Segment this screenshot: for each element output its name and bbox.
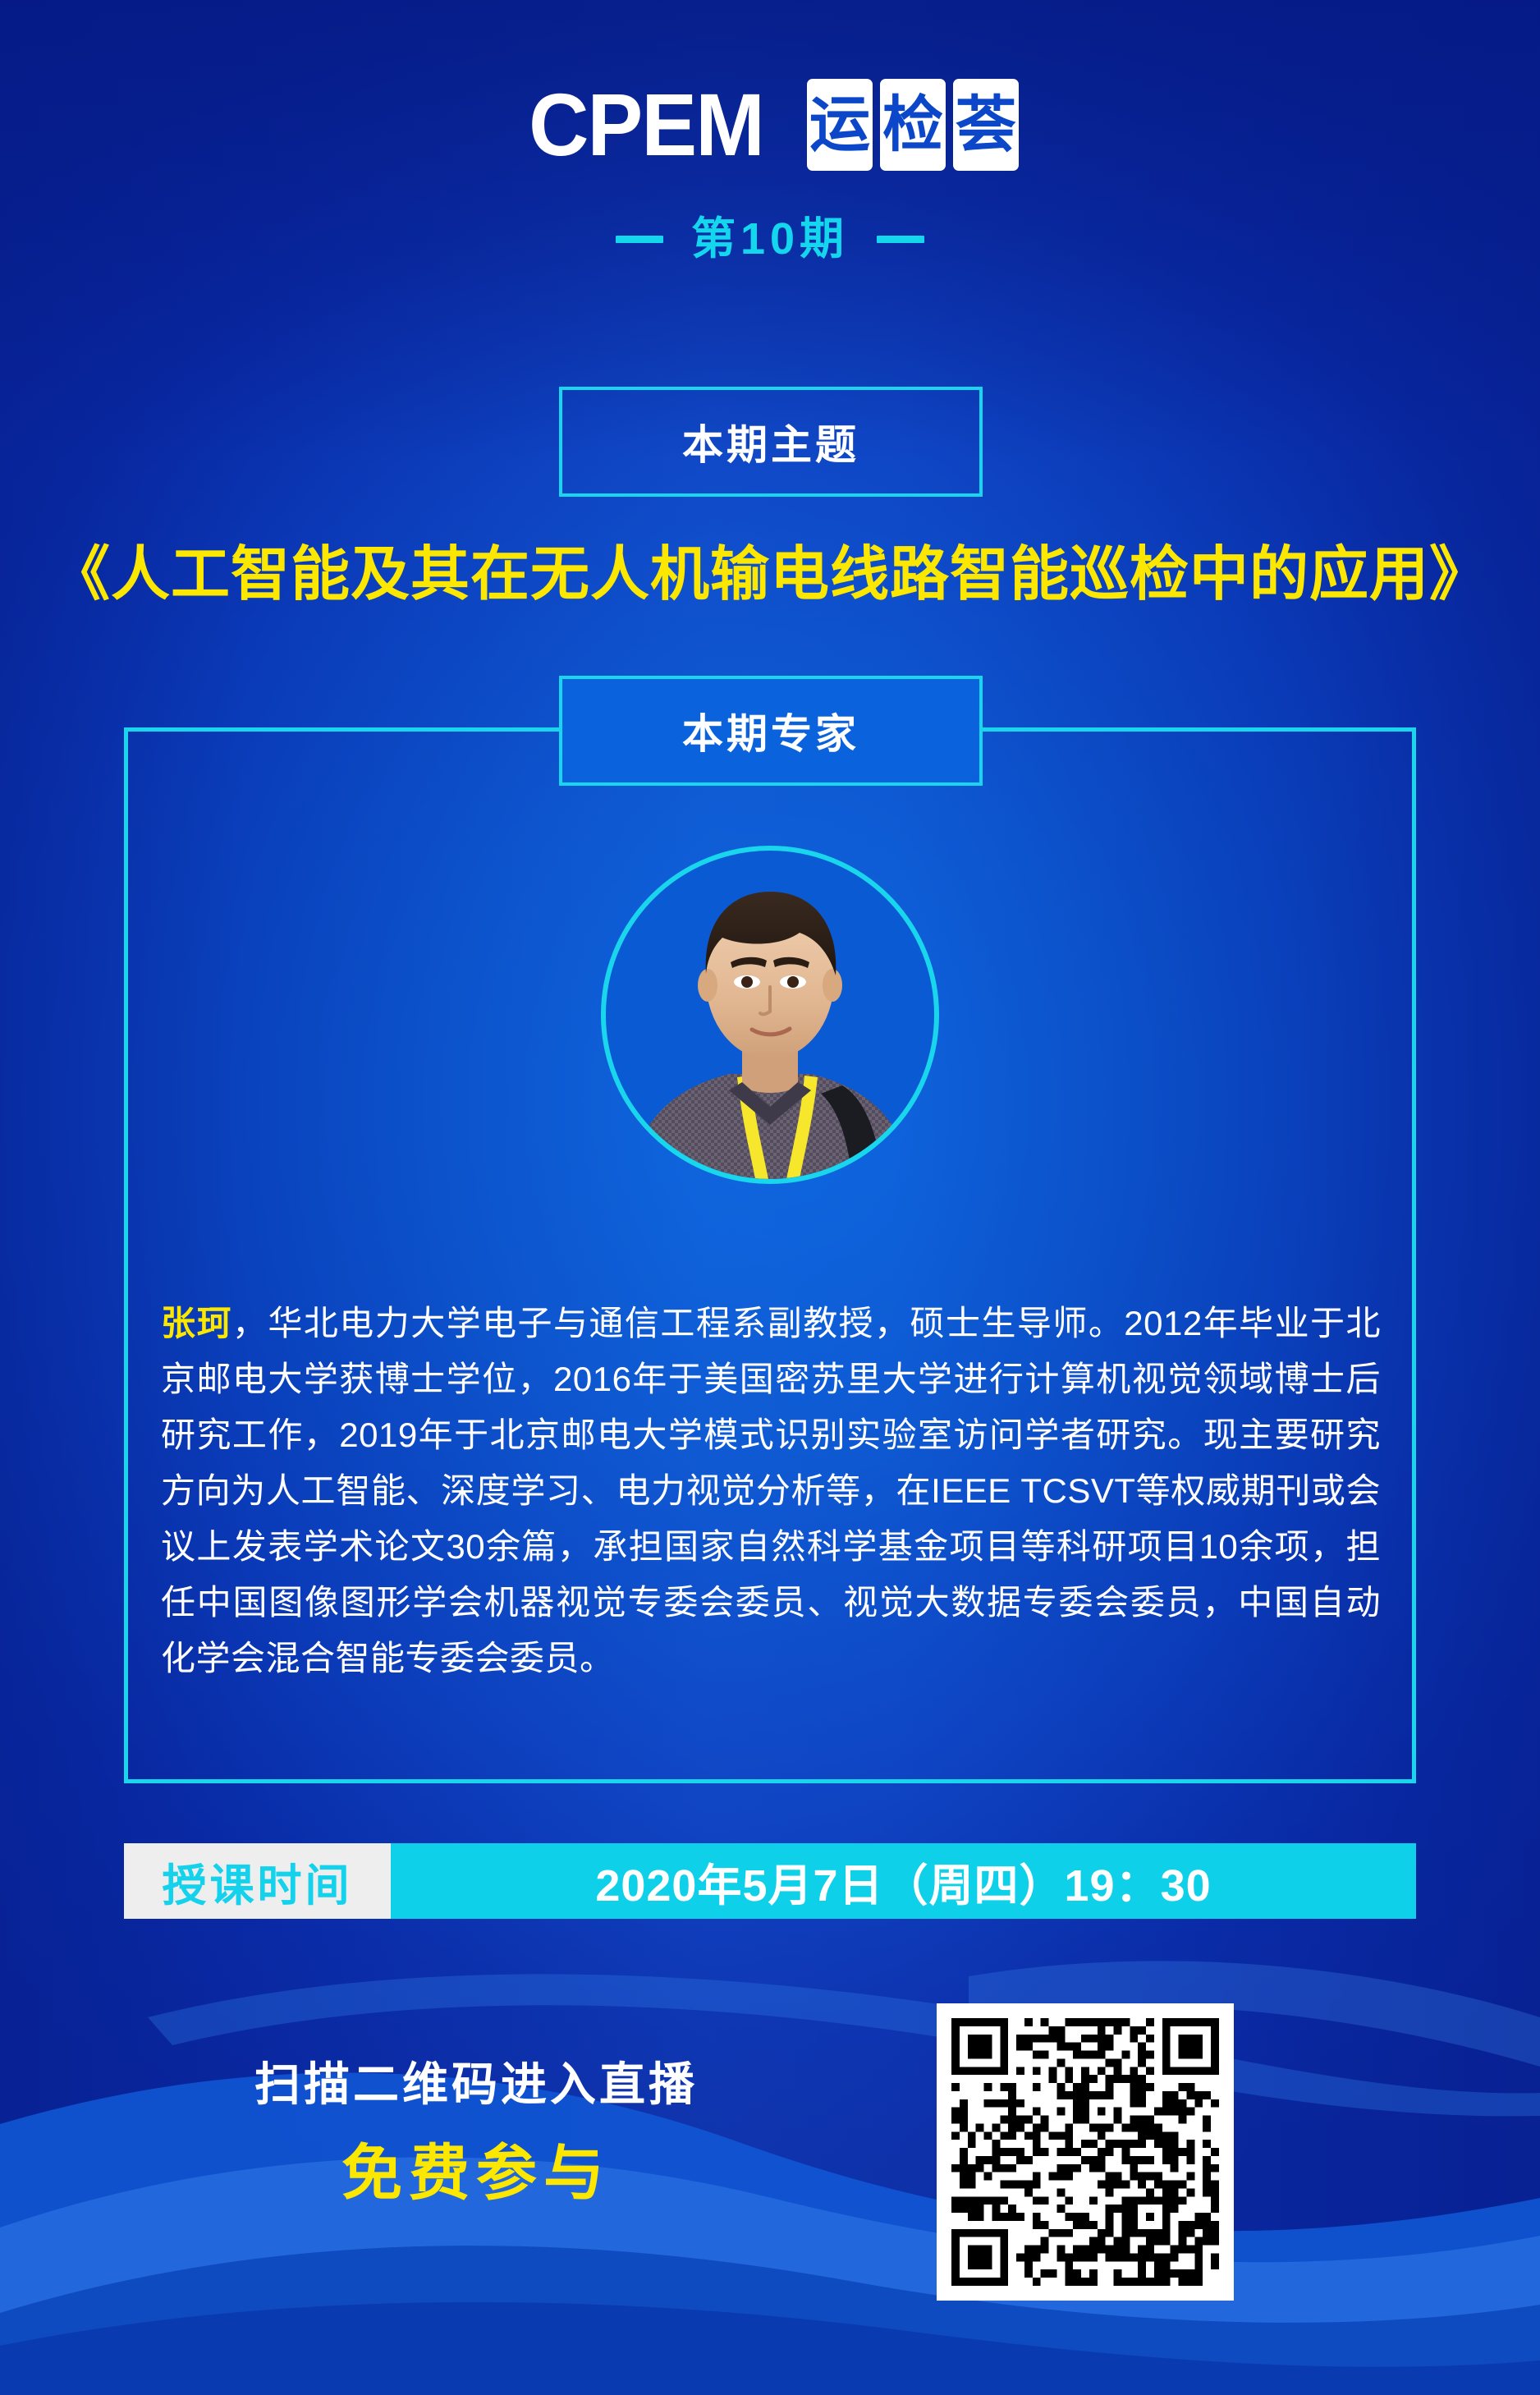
cta-block: 扫描二维码进入直播 免费参与 bbox=[148, 2059, 804, 2206]
schedule-label: 授课时间 bbox=[124, 1843, 391, 1919]
topic-label-box: 本期主题 bbox=[559, 387, 983, 497]
expert-bio: 张珂，华北电力大学电子与通信工程系副教授，硕士生导师。2012年毕业于北京邮电大… bbox=[161, 1296, 1381, 1686]
schedule-value: 2020年5月7日（周四）19：30 bbox=[391, 1843, 1416, 1919]
expert-bio-text: ，华北电力大学电子与通信工程系副教授，硕士生导师。2012年毕业于北京邮电大学获… bbox=[161, 1304, 1381, 1677]
qr-code[interactable] bbox=[937, 2003, 1234, 2301]
issue-number-row: 第10期 bbox=[0, 217, 1540, 261]
brand-wordmark: CPEM bbox=[529, 80, 763, 169]
topic-title: 《人工智能及其在无人机输电线路智能巡检中的应用》 bbox=[0, 525, 1540, 612]
expert-name: 张珂 bbox=[161, 1304, 232, 1342]
schedule-bar: 授课时间 2020年5月7日（周四）19：30 bbox=[124, 1843, 1416, 1919]
issue-number: 第10期 bbox=[691, 217, 849, 261]
scan-instruction: 扫描二维码进入直播 bbox=[148, 2059, 804, 2110]
poster-root: CPEM 运 检 荟 第10期 本期主题 《人工智能及其在无人机输电线路智能巡检… bbox=[0, 0, 1540, 2395]
poster-header: CPEM 运 检 荟 第10期 bbox=[0, 79, 1540, 261]
brand-logo: CPEM 运 检 荟 bbox=[0, 79, 1540, 171]
avatar bbox=[601, 846, 939, 1184]
dash-left-icon bbox=[616, 236, 663, 243]
seal-tile-3: 荟 bbox=[953, 79, 1019, 171]
seal-logo: 运 检 荟 bbox=[807, 79, 1019, 171]
free-join-text: 免费参与 bbox=[148, 2140, 804, 2206]
seal-tile-1: 运 bbox=[807, 79, 873, 171]
dash-right-icon bbox=[877, 236, 924, 243]
avatar-ring bbox=[601, 846, 939, 1184]
seal-tile-2: 检 bbox=[880, 79, 946, 171]
expert-label-box: 本期专家 bbox=[559, 676, 983, 786]
